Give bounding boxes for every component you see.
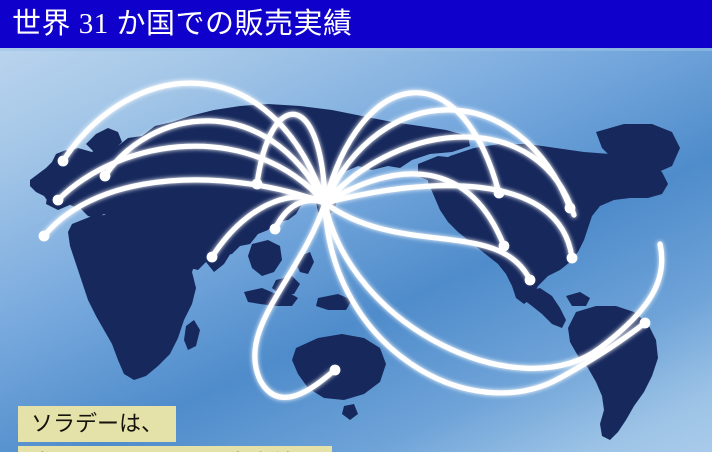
- landmass-madagascar: [184, 320, 200, 350]
- node-australia: [330, 365, 341, 376]
- node-china: [270, 224, 281, 235]
- node-west-africa: [39, 231, 50, 242]
- world-map-graphic: [0, 48, 712, 452]
- landmass-tasmania: [342, 404, 358, 420]
- landmass-caribbean: [566, 292, 590, 306]
- landmass-new-guinea: [316, 294, 352, 310]
- landmass-central-america: [524, 288, 566, 328]
- node-india: [207, 252, 218, 263]
- world-map-stage: ソラデーは、 世界 31 か国での販売実績。: [0, 48, 712, 452]
- node-canada-west: [494, 188, 505, 199]
- node-iberia: [53, 195, 64, 206]
- node-us-southeast: [567, 253, 578, 264]
- title-bar: 世界 31 か国での販売実績: [0, 0, 712, 48]
- slide-root: 世界 31 か国での販売実績: [0, 0, 712, 452]
- page-title: 世界 31 か国での販売実績: [12, 3, 353, 45]
- node-central-europe: [100, 171, 111, 182]
- node-mexico: [525, 275, 536, 286]
- node-russia: [252, 179, 263, 190]
- landmass-indochina: [248, 240, 282, 276]
- caption-line-1: ソラデーは、: [18, 406, 176, 442]
- node-hub-japan: [322, 200, 328, 206]
- node-us-west: [499, 241, 510, 252]
- caption-block: ソラデーは、 世界 31 か国での販売実績。: [18, 406, 332, 452]
- caption-line-2: 世界 31 か国での販売実績。: [18, 446, 332, 452]
- node-canada-east: [565, 203, 576, 214]
- node-uk: [58, 156, 69, 167]
- node-south-america: [640, 318, 651, 329]
